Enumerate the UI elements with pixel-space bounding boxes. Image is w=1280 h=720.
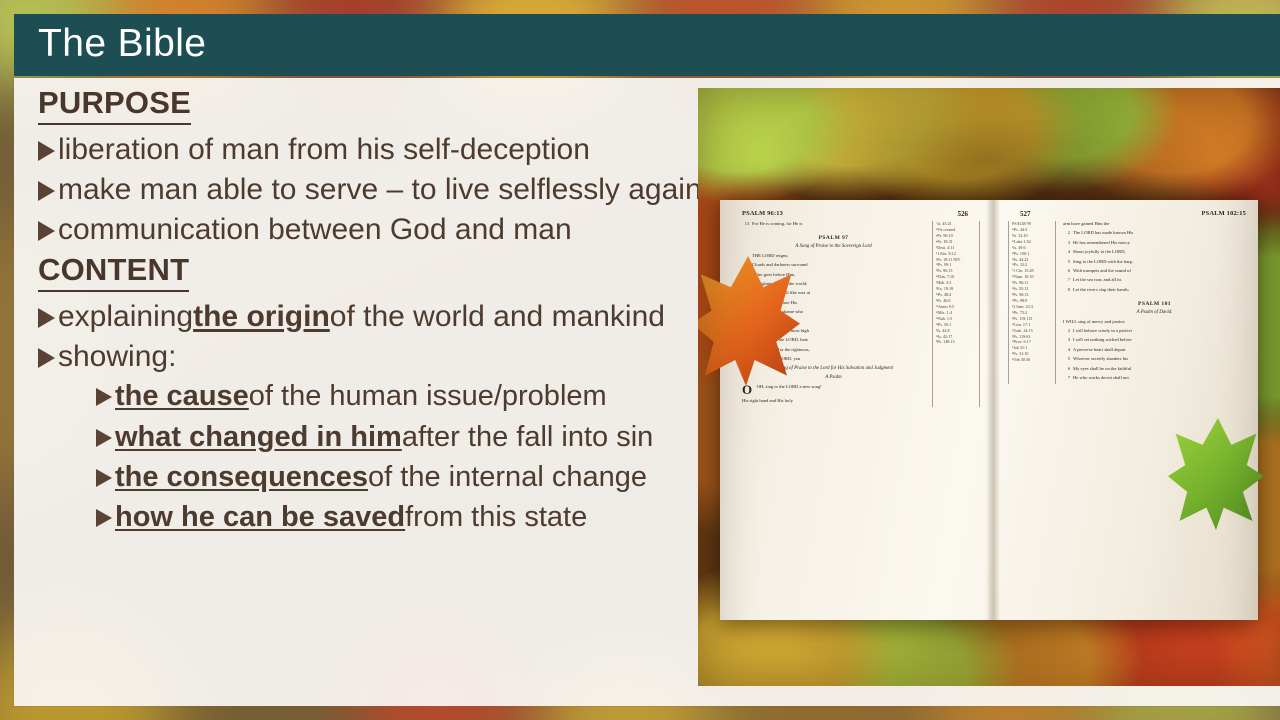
psalm-subtitle: A Song of Praise to the Sovereign Lord xyxy=(742,244,925,249)
list-item: explaining the origin of the world and m… xyxy=(38,297,684,336)
list-item-label: make man able to serve – to live selfles… xyxy=(58,170,702,209)
cross-ref: ᵐJob 30:30 xyxy=(1012,357,1052,363)
verse-number: 3 xyxy=(1063,337,1070,344)
verse: 3 A fire goes before Him, xyxy=(742,272,925,279)
verse: THE LORD reigns; xyxy=(742,253,925,260)
triangle-bullet-icon xyxy=(96,388,112,406)
verse-number: 6 xyxy=(1063,268,1070,275)
list-item: what changed in him after the fall into … xyxy=(38,418,684,457)
verse: arm have gained Him the xyxy=(1063,221,1246,228)
verse-number: 7 xyxy=(1063,375,1070,382)
verse-text: Whoever secretly slanders his xyxy=(1073,356,1246,363)
list-item-label: of the world and mankind xyxy=(330,297,665,336)
right-text-column: arm have gained Him the 2 The LORD has m… xyxy=(1063,221,1246,384)
drop-cap: O xyxy=(742,384,754,396)
verse: I WILL sing of mercy and justice; xyxy=(1063,319,1246,326)
right-running-head: PSALM 102:15 xyxy=(1008,210,1246,217)
verse-number: 5 xyxy=(1063,259,1070,266)
verse-number: 6 xyxy=(1063,366,1070,373)
left-cross-reference-column: ‘Is. 45:21 ᵐOr created •Ps. 96:10 •Ps. 1… xyxy=(932,221,980,407)
verse-text: arm have gained Him the xyxy=(1063,221,1246,228)
verse: 7 Let the sea roar, and all its xyxy=(1063,277,1246,284)
verse: His right hand and His holy xyxy=(742,398,925,405)
verse-number: 4 xyxy=(1063,249,1070,256)
triangle-bullet-icon xyxy=(96,509,112,527)
list-item-prefix: explaining xyxy=(58,297,193,336)
triangle-bullet-icon xyxy=(38,221,55,241)
list-item: communication between God and man xyxy=(38,210,684,249)
verse-number: 13 xyxy=(742,221,749,228)
list-item: the consequences of the internal change xyxy=(38,458,684,497)
page-title: The Bible xyxy=(38,22,206,66)
verse-text: With trumpets and the sound of xyxy=(1073,268,1246,275)
left-folio: 526 xyxy=(958,210,969,218)
slide-root: The Bible PURPOSE liberation of man from… xyxy=(0,0,1280,720)
list-item-label: showing: xyxy=(58,337,176,376)
right-folio: 527 xyxy=(1020,210,1031,218)
verse-text: THE LORD reigns; xyxy=(752,253,925,260)
verse-text: His right hand and His holy xyxy=(742,398,925,405)
verse: 3 He has remembered His mercy xyxy=(1063,240,1246,247)
list-item-emphasis: the consequences xyxy=(115,458,368,497)
verse: 4 Shout joyfully to the LORD, xyxy=(1063,249,1246,256)
verse: 2 I will behave wisely in a perfect xyxy=(1063,328,1246,335)
verse-number: 2 xyxy=(1063,328,1070,335)
verse-number: 8 xyxy=(1063,287,1070,294)
bible-left-page: PSALM 96:13 526 13 For He is coming, for… xyxy=(742,210,980,610)
list-item-emphasis: how he can be saved xyxy=(115,498,405,537)
verse-text: Let the sea roar, and all its xyxy=(1073,277,1246,284)
verse-text: I WILL sing of mercy and justice; xyxy=(1063,319,1246,326)
triangle-bullet-icon xyxy=(96,429,112,447)
verse-text: I will behave wisely in a perfect xyxy=(1073,328,1246,335)
list-item-label: from this state xyxy=(405,498,587,537)
verse-text: My eyes shall be on the faithful xyxy=(1073,366,1246,373)
verse-text: For He is coming, for He is xyxy=(752,221,925,228)
verse-number: 7 xyxy=(1063,277,1070,284)
verse-text: Clouds and darkness surround xyxy=(752,262,925,269)
psalm-footer-label: A Psalm xyxy=(742,375,925,380)
triangle-bullet-icon xyxy=(38,308,55,328)
verse-text: Shout joyfully to the LORD, xyxy=(1073,249,1246,256)
verse-number: 5 xyxy=(1063,356,1070,363)
section-heading-content: CONTENT xyxy=(38,251,189,292)
list-item: the cause of the human issue/problem xyxy=(38,377,684,416)
slide-content-panel: PURPOSE liberation of man from his self-… xyxy=(14,78,1280,706)
verse: 13 For He is coming, for He is xyxy=(742,221,925,228)
triangle-bullet-icon xyxy=(38,181,55,201)
verse: 6 My eyes shall be on the faithful xyxy=(1063,366,1246,373)
verse-text: He who works deceit shall not xyxy=(1073,375,1246,382)
verse: 8 Let the rivers clap their hands; xyxy=(1063,287,1246,294)
section-heading-purpose-row: PURPOSE xyxy=(38,84,684,127)
list-item: liberation of man from his self-deceptio… xyxy=(38,130,684,169)
verse-number: 2 xyxy=(1063,230,1070,237)
bible-right-page: PSALM 102:15 527 PSALM 99 ᵐPs. 44:3 ¹Is.… xyxy=(1008,210,1246,610)
verse: 2 The LORD has made known His xyxy=(1063,230,1246,237)
verse-number: 3 xyxy=(1063,240,1070,247)
open-bible: PSALM 96:13 526 13 For He is coming, for… xyxy=(720,200,1258,620)
triangle-bullet-icon xyxy=(38,141,55,161)
triangle-bullet-icon xyxy=(38,348,55,368)
verse: 2 Clouds and darkness surround xyxy=(742,262,925,269)
verse-text: A fire goes before Him, xyxy=(752,272,925,279)
verse: O OH, sing to the LORD a new song! xyxy=(742,384,925,396)
list-item-emphasis: the cause xyxy=(115,377,249,416)
right-cross-reference-column: PSALM 99 ᵐPs. 44:3 ¹Is. 52:10 ᵐLuke 1:54… xyxy=(1008,221,1056,384)
verse-text: He has remembered His mercy xyxy=(1073,240,1246,247)
list-item-emphasis: the origin xyxy=(193,297,330,336)
list-item-label: liberation of man from his self-deceptio… xyxy=(58,130,590,169)
verse: 6 With trumpets and the sound of xyxy=(1063,268,1246,275)
verse-text: A perverse heart shall depart xyxy=(1073,347,1246,354)
verse-text: Sing to the LORD with the harp, xyxy=(1073,259,1246,266)
psalm-title: PSALM 97 xyxy=(742,235,925,241)
verse: 5 Whoever secretly slanders his xyxy=(1063,356,1246,363)
bullet-text-column: PURPOSE liberation of man from his self-… xyxy=(38,84,684,539)
list-item-label: after the fall into sin xyxy=(402,418,653,457)
book-gutter xyxy=(986,200,1000,620)
list-item: make man able to serve – to live selfles… xyxy=(38,170,684,209)
verse: 7 He who works deceit shall not xyxy=(1063,375,1246,382)
verse-text: OH, sing to the LORD a new song! xyxy=(757,384,925,396)
list-item-label: communication between God and man xyxy=(58,210,572,249)
triangle-bullet-icon xyxy=(96,469,112,487)
verse-text: The LORD has made known His xyxy=(1073,230,1246,237)
slide-title-bar: The Bible xyxy=(14,14,1280,76)
verse-text: I will set nothing wicked before xyxy=(1073,337,1246,344)
section-heading-purpose: PURPOSE xyxy=(38,84,191,125)
list-item-label: of the human issue/problem xyxy=(249,377,607,416)
verse: 5 Sing to the LORD with the harp, xyxy=(1063,259,1246,266)
left-running-head: PSALM 96:13 xyxy=(742,210,980,217)
verse: 4 A perverse heart shall depart xyxy=(1063,347,1246,354)
bible-photo: PSALM 96:13 526 13 For He is coming, for… xyxy=(698,88,1280,686)
psalm-101-title: PSALM 101 xyxy=(1063,301,1246,307)
list-item: how he can be saved from this state xyxy=(38,498,684,537)
list-item: showing: xyxy=(38,337,684,376)
cross-ref: ¹Ps. 148:13 xyxy=(936,339,976,345)
section-heading-content-row: CONTENT xyxy=(38,251,684,294)
list-item-label: of the internal change xyxy=(368,458,647,497)
verse-number: 4 xyxy=(1063,347,1070,354)
psalm-101-subtitle: A Psalm of David. xyxy=(1063,310,1246,315)
list-item-emphasis: what changed in him xyxy=(115,418,402,457)
verse-text: Let the rivers clap their hands; xyxy=(1073,287,1246,294)
verse: 3 I will set nothing wicked before xyxy=(1063,337,1246,344)
